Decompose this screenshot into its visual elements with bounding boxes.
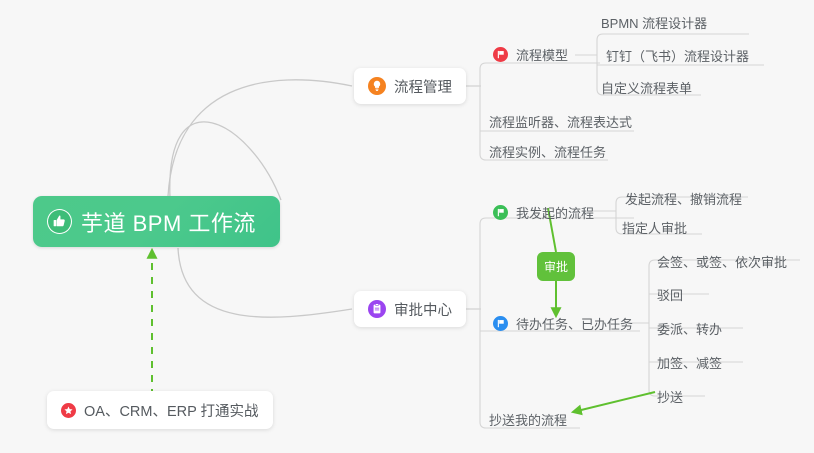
thumbs-up-icon (47, 209, 72, 234)
branch-process-management[interactable]: 流程管理 (354, 68, 466, 104)
node-my-initiated[interactable]: 我发起的流程 (493, 201, 594, 223)
node-process-model-label: 流程模型 (516, 45, 568, 64)
note-node[interactable]: OA、CRM、ERP 打通实战 (47, 391, 273, 429)
lightbulb-icon (368, 77, 386, 95)
wire-root-to-process-management (170, 122, 281, 200)
node-add-remove-sign-label: 加签、减签 (657, 353, 722, 372)
root-label: 芋道 BPM 工作流 (81, 206, 256, 238)
node-dingtalk-designer[interactable]: 钉钉（飞书）流程设计器 (606, 44, 749, 66)
note-label: OA、CRM、ERP 打通实战 (84, 400, 259, 421)
node-custom-form[interactable]: 自定义流程表单 (601, 76, 692, 98)
callout-approval: 审批 (537, 252, 575, 281)
node-start-cancel-process-label: 发起流程、撤销流程 (625, 189, 742, 208)
wire-root-to-approval-center (178, 248, 352, 317)
node-process-model[interactable]: 流程模型 (493, 43, 568, 65)
node-dingtalk-designer-label: 钉钉（飞书）流程设计器 (606, 46, 749, 65)
node-reject[interactable]: 驳回 (657, 283, 683, 305)
callout-approval-label: 审批 (544, 258, 568, 275)
node-my-initiated-label: 我发起的流程 (516, 203, 594, 222)
branch-approval-center[interactable]: 审批中心 (354, 291, 466, 327)
flag-icon-red (493, 47, 508, 62)
node-assignee-approval[interactable]: 指定人审批 (622, 216, 687, 238)
node-custom-form-label: 自定义流程表单 (601, 78, 692, 97)
node-assignee-approval-label: 指定人审批 (622, 218, 687, 237)
node-process-instance-label: 流程实例、流程任务 (489, 142, 606, 161)
node-cc[interactable]: 抄送 (657, 385, 683, 407)
node-bpmn-designer-label: BPMN 流程设计器 (601, 13, 707, 32)
node-delegate-transfer-label: 委派、转办 (657, 319, 722, 338)
node-process-instance[interactable]: 流程实例、流程任务 (489, 140, 606, 162)
mindmap-canvas: 芋道 BPM 工作流 OA、CRM、ERP 打通实战 流程管理 (0, 0, 814, 453)
clipboard-icon (368, 300, 386, 318)
wire-curve-to-process-management (168, 80, 352, 196)
node-start-cancel-process[interactable]: 发起流程、撤销流程 (625, 187, 742, 209)
branch-approval-center-label: 审批中心 (394, 299, 452, 320)
node-reject-label: 驳回 (657, 285, 683, 304)
node-cc-label: 抄送 (657, 387, 683, 406)
node-process-listener-label: 流程监听器、流程表达式 (489, 112, 632, 131)
node-countersign[interactable]: 会签、或签、依次审批 (657, 250, 787, 272)
branch-process-management-label: 流程管理 (394, 76, 452, 97)
root-node[interactable]: 芋道 BPM 工作流 (33, 196, 280, 247)
node-add-remove-sign[interactable]: 加签、减签 (657, 351, 722, 373)
node-delegate-transfer[interactable]: 委派、转办 (657, 317, 722, 339)
node-todo-done-tasks-label: 待办任务、已办任务 (516, 314, 633, 333)
node-bpmn-designer[interactable]: BPMN 流程设计器 (601, 11, 707, 33)
flag-icon-blue (493, 316, 508, 331)
node-cc-to-me-label: 抄送我的流程 (489, 410, 567, 429)
node-process-listener[interactable]: 流程监听器、流程表达式 (489, 110, 632, 132)
node-cc-to-me[interactable]: 抄送我的流程 (489, 408, 567, 430)
star-icon (61, 403, 76, 418)
node-countersign-label: 会签、或签、依次审批 (657, 252, 787, 271)
node-todo-done-tasks[interactable]: 待办任务、已办任务 (493, 312, 633, 334)
flag-icon-green (493, 205, 508, 220)
annotation-arrow-cc (573, 392, 655, 412)
